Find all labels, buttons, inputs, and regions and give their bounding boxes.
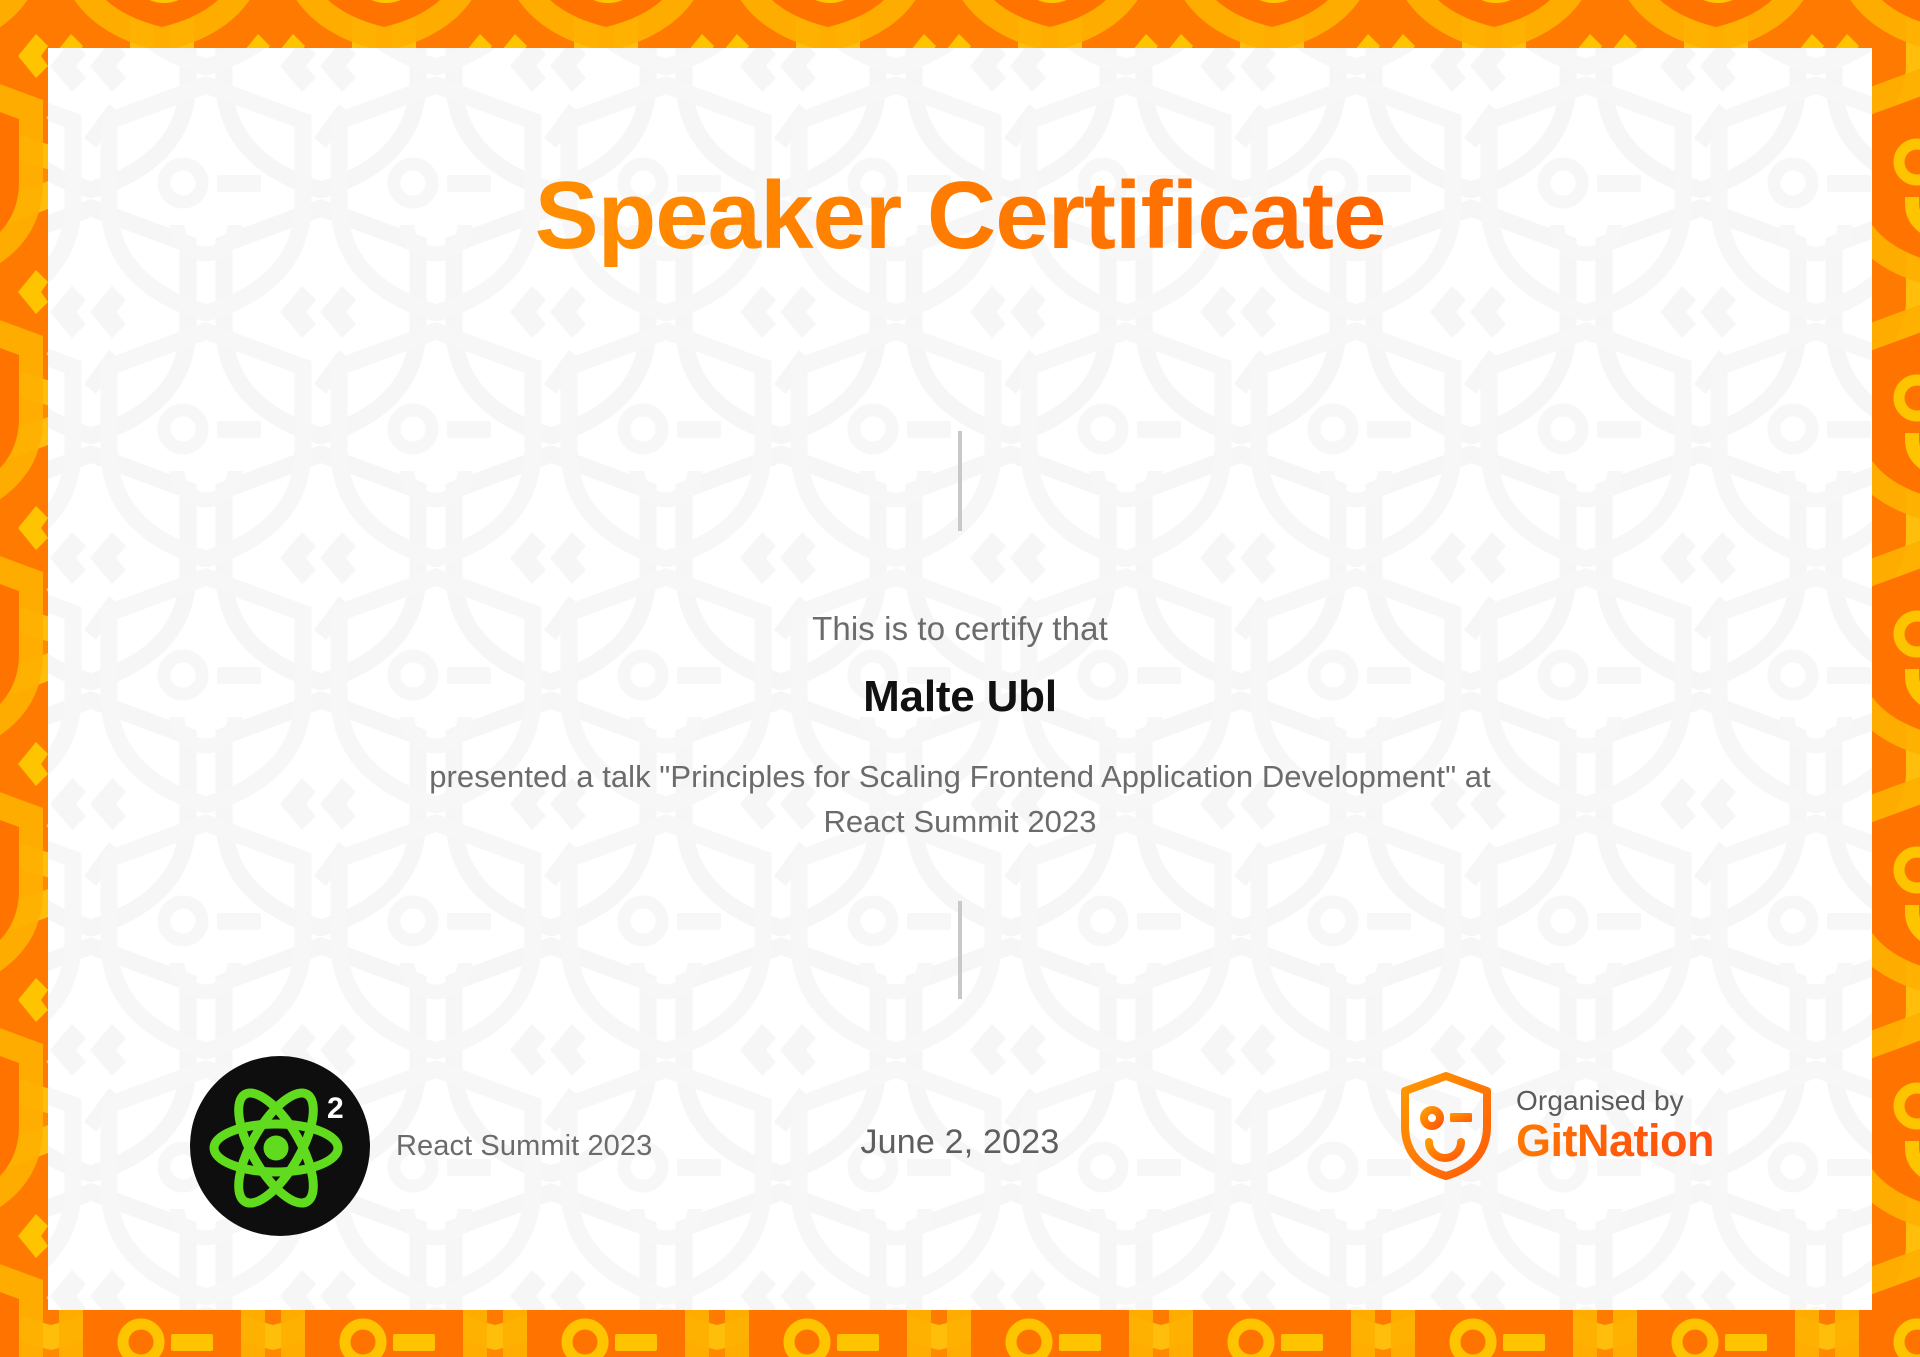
speaker-certificate: Speaker Certificate This is to certify t… bbox=[0, 0, 1920, 1357]
organiser-branding: Organised by GitNation bbox=[1398, 1070, 1714, 1182]
organiser-text: Organised by GitNation bbox=[1516, 1085, 1714, 1167]
gitnation-shield-icon bbox=[1398, 1070, 1494, 1182]
talk-description-line-2: React Summit 2023 bbox=[823, 804, 1096, 839]
divider-bottom bbox=[958, 901, 962, 999]
talk-description-line-1: presented a talk "Principles for Scaling… bbox=[429, 759, 1491, 794]
certificate-card: Speaker Certificate This is to certify t… bbox=[48, 48, 1872, 1310]
organised-by-label: Organised by bbox=[1516, 1085, 1714, 1116]
divider-top bbox=[958, 431, 962, 531]
page-title: Speaker Certificate bbox=[48, 166, 1872, 267]
svg-text:2: 2 bbox=[327, 1092, 344, 1125]
talk-description: presented a talk "Principles for Scaling… bbox=[218, 755, 1702, 844]
organiser-name: GitNation bbox=[1516, 1116, 1714, 1166]
certify-statement: This is to certify that bbox=[48, 610, 1872, 648]
certificate-footer: 2 React Summit 2023 June 2, 2023 bbox=[48, 1048, 1872, 1238]
recipient-name: Malte Ubl bbox=[48, 672, 1872, 722]
